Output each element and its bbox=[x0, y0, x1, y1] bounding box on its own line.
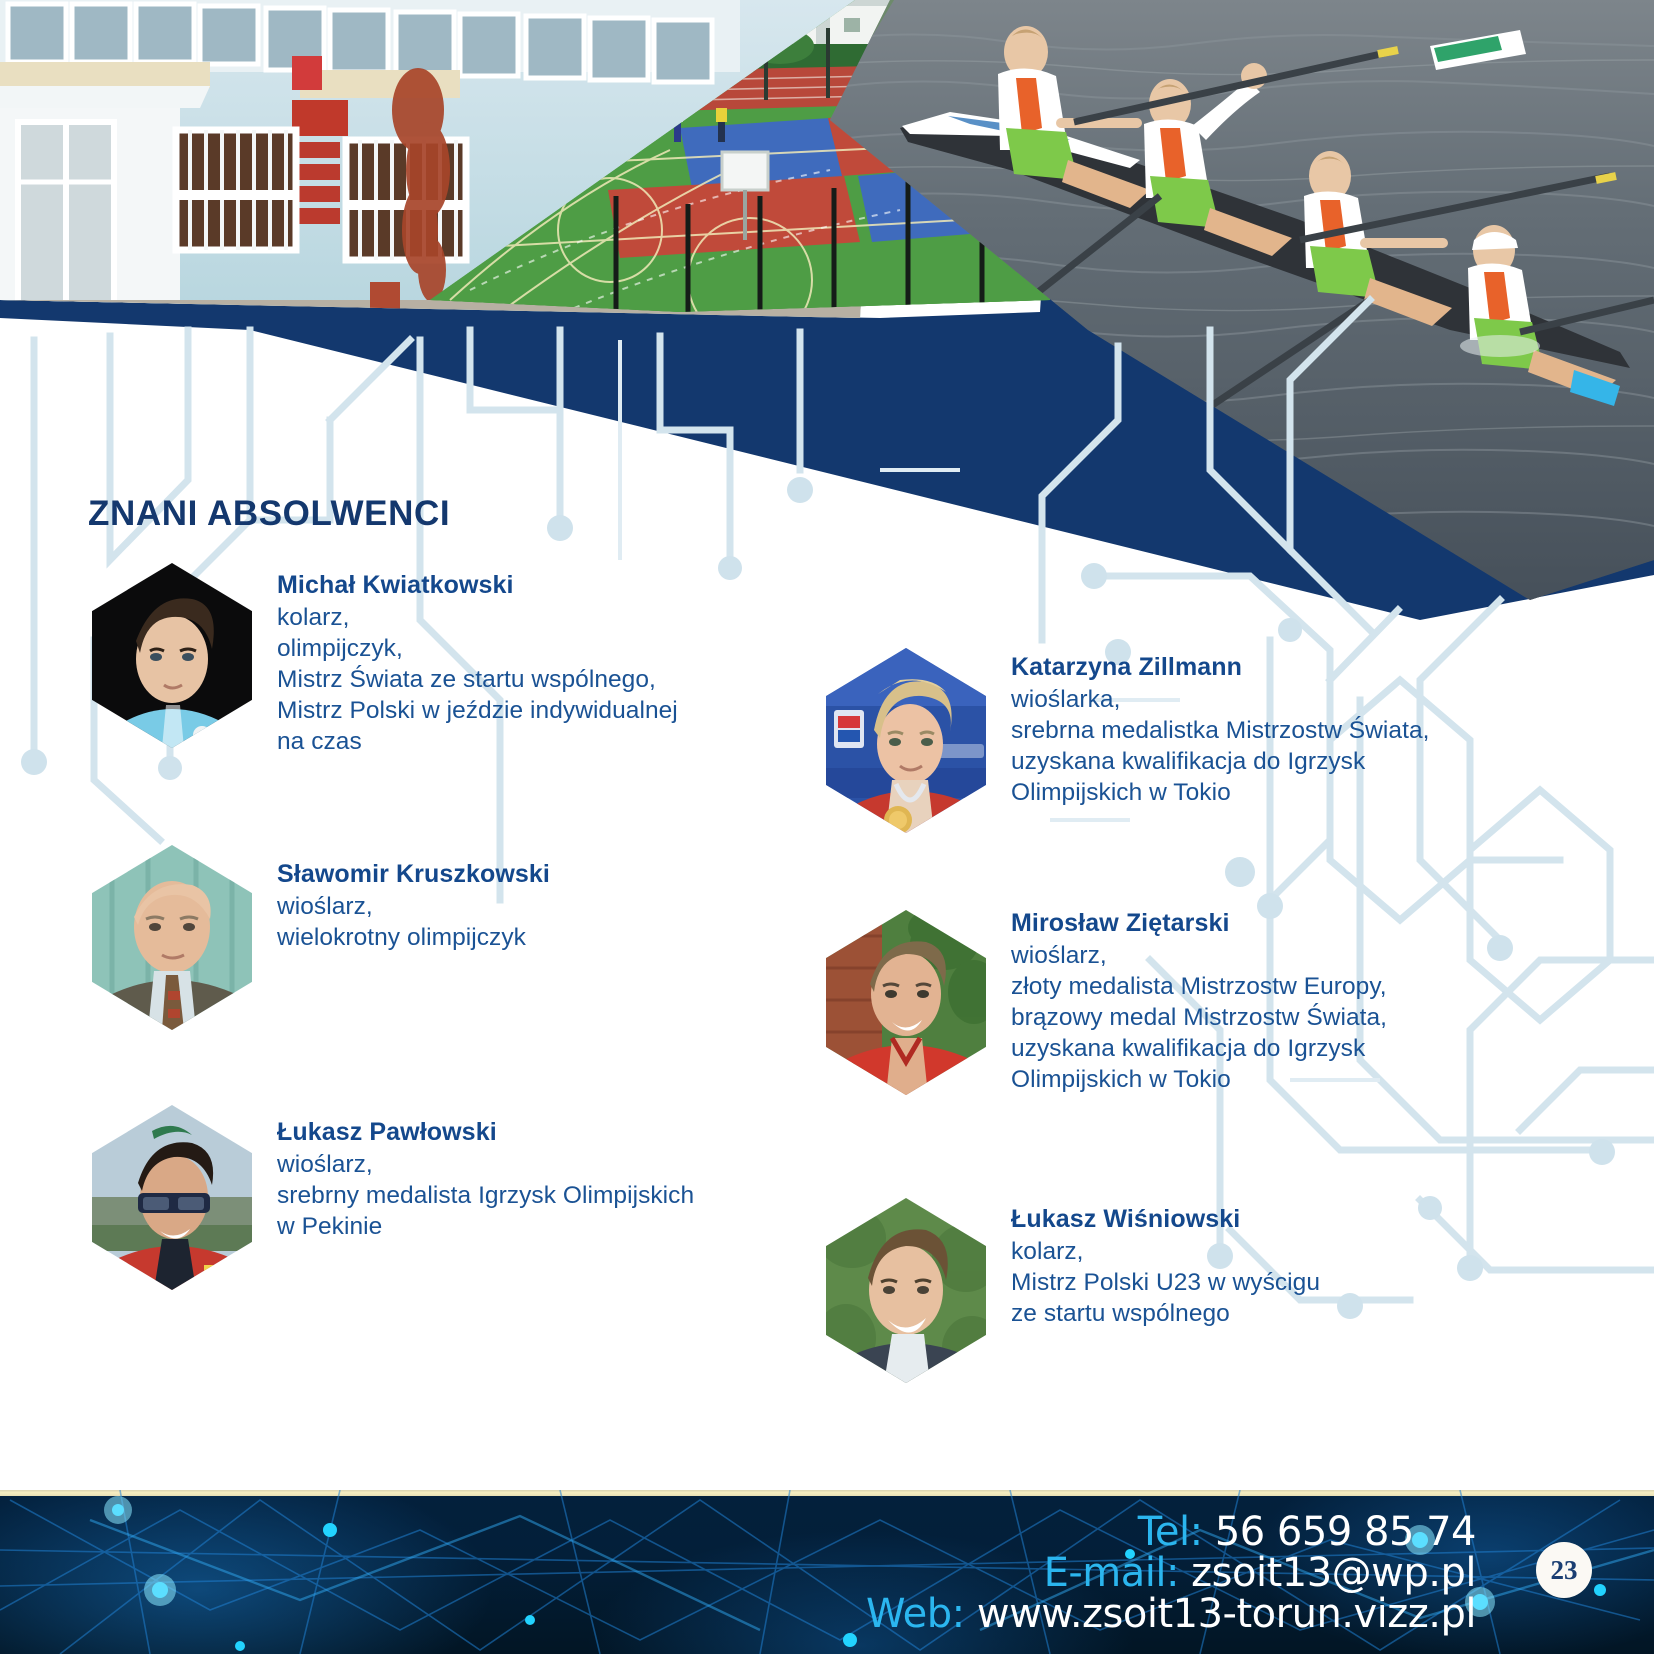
alumnus-entry: Sławomir Kruszkowski wioślarz, wielokrot… bbox=[92, 845, 792, 1045]
alumnus-text: Łukasz Wiśniowski kolarz, Mistrz Polski … bbox=[1011, 1204, 1320, 1329]
web-value[interactable]: www.zsoit13-torun.vizz.pl bbox=[977, 1591, 1476, 1637]
web-label: Web: bbox=[866, 1591, 965, 1637]
hexagon-photo-frame bbox=[92, 845, 252, 1030]
hexagon-photo-frame bbox=[92, 1105, 252, 1290]
hexagon-photo-frame bbox=[826, 910, 986, 1095]
hexagon-photo-frame bbox=[826, 648, 986, 833]
alumnus-text: Sławomir Kruszkowski wioślarz, wielokrot… bbox=[277, 859, 550, 953]
tel-value: 56 659 85 74 bbox=[1215, 1509, 1476, 1555]
alumnus-description: wioślarz, złoty medalista Mistrzostw Eur… bbox=[1011, 940, 1387, 1096]
alumnus-name: Katarzyna Zillmann bbox=[1011, 652, 1429, 684]
page-number-badge: 23 bbox=[1536, 1542, 1592, 1598]
brochure-page: ZNANI ABSOLWENCI bbox=[0, 0, 1654, 1654]
alumnus-entry: Michał Kwiatkowski kolarz, olimpijczyk, … bbox=[92, 563, 792, 763]
alumnus-text: Mirosław Ziętarski wioślarz, złoty medal… bbox=[1011, 908, 1387, 1095]
alumnus-name: Łukasz Pawłowski bbox=[277, 1117, 694, 1149]
page-title: ZNANI ABSOLWENCI bbox=[88, 494, 450, 534]
avatar bbox=[92, 1105, 252, 1290]
alumnus-description: wioślarka, srebrna medalistka Mistrzostw… bbox=[1011, 684, 1429, 808]
alumnus-entry: Łukasz Pawłowski wioślarz, srebrny medal… bbox=[92, 1105, 832, 1305]
email-label: E-mail: bbox=[1044, 1550, 1179, 1596]
email-value[interactable]: zsoit13@wp.pl bbox=[1191, 1550, 1476, 1596]
tel-label: Tel: bbox=[1138, 1509, 1203, 1555]
page-footer: Tel: 56 659 85 74 E-mail: zsoit13@wp.pl … bbox=[0, 1490, 1654, 1654]
alumnus-name: Sławomir Kruszkowski bbox=[277, 859, 550, 891]
alumnus-name: Michał Kwiatkowski bbox=[277, 570, 678, 602]
contact-web: Web: www.zsoit13-torun.vizz.pl bbox=[866, 1594, 1476, 1635]
alumnus-name: Łukasz Wiśniowski bbox=[1011, 1204, 1320, 1236]
alumnus-text: Łukasz Pawłowski wioślarz, srebrny medal… bbox=[277, 1117, 694, 1242]
contact-tel: Tel: 56 659 85 74 bbox=[866, 1512, 1476, 1553]
alumnus-text: Michał Kwiatkowski kolarz, olimpijczyk, … bbox=[277, 570, 678, 757]
alumnus-entry: Mirosław Ziętarski wioślarz, złoty medal… bbox=[826, 910, 1566, 1130]
alumnus-description: kolarz, olimpijczyk, Mistrz Świata ze st… bbox=[277, 602, 678, 758]
alumnus-name: Mirosław Ziętarski bbox=[1011, 908, 1387, 940]
avatar bbox=[826, 648, 986, 833]
alumnus-entry: Katarzyna Zillmann wioślarka, srebrna me… bbox=[826, 648, 1566, 848]
hexagon-photo-frame bbox=[92, 563, 252, 748]
alumnus-entry: Łukasz Wiśniowski kolarz, Mistrz Polski … bbox=[826, 1198, 1566, 1398]
contact-email: E-mail: zsoit13@wp.pl bbox=[866, 1553, 1476, 1594]
alumnus-description: wioślarz, wielokrotny olimpijczyk bbox=[277, 891, 550, 953]
alumnus-text: Katarzyna Zillmann wioślarka, srebrna me… bbox=[1011, 652, 1429, 808]
hexagon-photo-frame bbox=[826, 1198, 986, 1383]
alumnus-description: kolarz, Mistrz Polski U23 w wyścigu ze s… bbox=[1011, 1236, 1320, 1329]
avatar bbox=[826, 910, 986, 1095]
avatar bbox=[92, 845, 252, 1030]
avatar bbox=[826, 1198, 986, 1383]
contact-info: Tel: 56 659 85 74 E-mail: zsoit13@wp.pl … bbox=[866, 1512, 1476, 1634]
avatar bbox=[92, 563, 252, 748]
alumnus-description: wioślarz, srebrny medalista Igrzysk Olim… bbox=[277, 1149, 694, 1242]
